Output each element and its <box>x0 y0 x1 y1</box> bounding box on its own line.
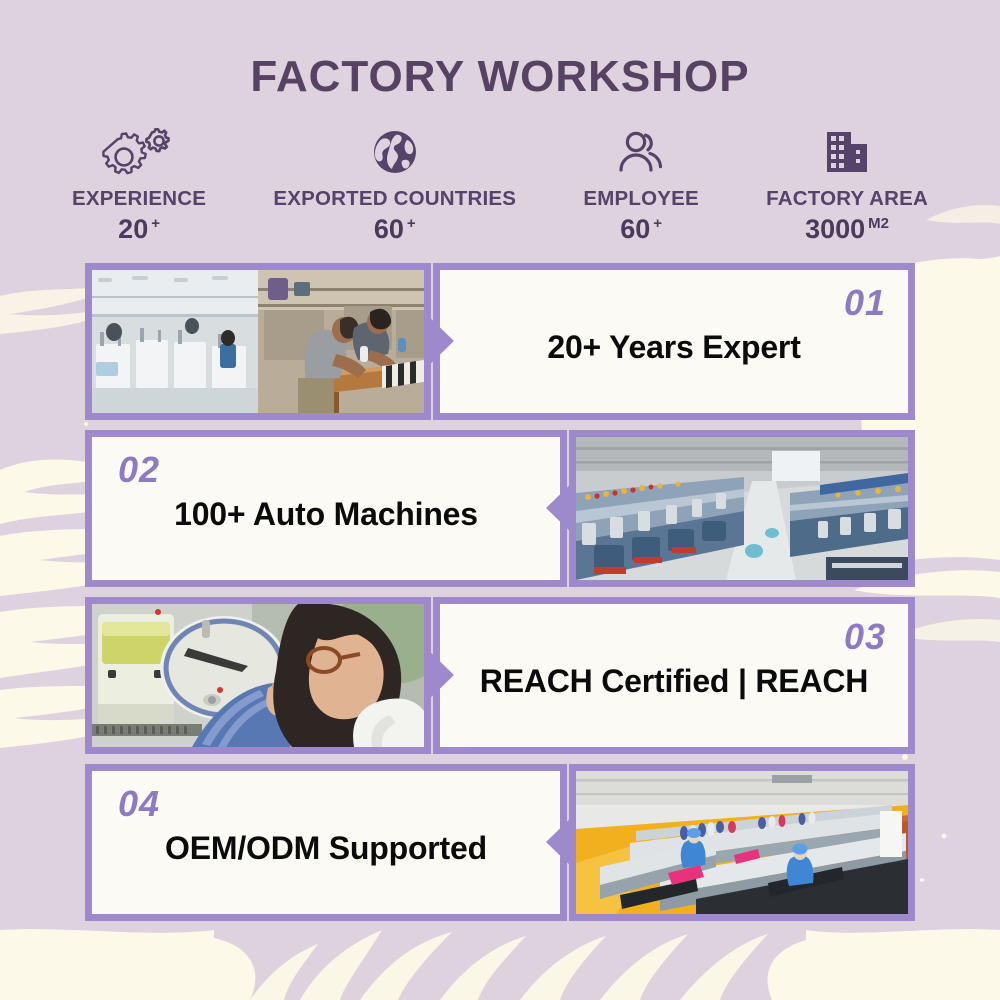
stat-label: FACTORY AREA <box>766 189 928 210</box>
stat-suffix: + <box>407 215 416 232</box>
stat-suffix: M2 <box>868 215 889 232</box>
stat-number: 60 <box>620 214 650 244</box>
row-image-04 <box>569 764 915 921</box>
stat-exported-countries: EXPORTED COUNTRIES 60+ <box>273 128 516 243</box>
row-text-panel-01: 01 20+ Years Expert <box>433 263 915 420</box>
row-heading: 20+ Years Expert <box>440 329 908 366</box>
row-text-panel-04: 04 OEM/ODM Supported <box>85 764 567 921</box>
stat-suffix: + <box>653 215 662 232</box>
feature-row-02: 02 100+ Auto Machines <box>85 430 915 587</box>
row-heading: REACH Certified | REACH <box>440 663 908 700</box>
row-heading: OEM/ODM Supported <box>92 830 560 867</box>
stat-label: EXPORTED COUNTRIES <box>273 189 516 210</box>
feature-row-04: 04 OEM/ODM Supported <box>85 764 915 921</box>
stat-number: 3000 <box>805 214 865 244</box>
stat-experience: EXPERIENCE 20+ <box>72 128 206 243</box>
row-number: 01 <box>844 285 886 321</box>
stat-employee: EMPLOYEE 60+ <box>583 128 699 243</box>
feature-row-03: 03 REACH Certified | REACH <box>85 597 915 754</box>
feature-rows: 01 20+ Years Expert 02 100+ Auto Machine… <box>0 263 1000 921</box>
row-heading: 100+ Auto Machines <box>92 496 560 533</box>
row-image-01 <box>85 263 431 420</box>
row-number: 04 <box>118 786 160 822</box>
gears-icon <box>72 128 206 180</box>
stat-suffix: + <box>151 215 160 232</box>
feature-row-01: 01 20+ Years Expert <box>85 263 915 420</box>
row-image-03 <box>85 597 431 754</box>
stat-label: EMPLOYEE <box>583 189 699 210</box>
stats-row: EXPERIENCE 20+ <box>0 102 1000 243</box>
stat-value: 60+ <box>273 216 516 243</box>
stat-number: 20 <box>118 214 148 244</box>
stat-value: 20+ <box>72 216 206 243</box>
stat-value: 60+ <box>583 216 699 243</box>
row-number: 02 <box>118 452 160 488</box>
row-text-panel-03: 03 REACH Certified | REACH <box>433 597 915 754</box>
stat-value: 3000M2 <box>766 216 928 243</box>
building-icon <box>766 128 928 180</box>
row-number: 03 <box>844 619 886 655</box>
stat-label: EXPERIENCE <box>72 189 206 210</box>
row-image-02 <box>569 430 915 587</box>
stat-number: 60 <box>374 214 404 244</box>
people-icon <box>583 128 699 180</box>
page-title: FACTORY WORKSHOP <box>0 0 1000 102</box>
stat-factory-area: FACTORY AREA 3000M2 <box>766 128 928 243</box>
infographic-page: FACTORY WORKSHOP EXPERIENCE 20+ <box>0 0 1000 1000</box>
row-text-panel-02: 02 100+ Auto Machines <box>85 430 567 587</box>
globe-icon <box>273 128 516 180</box>
